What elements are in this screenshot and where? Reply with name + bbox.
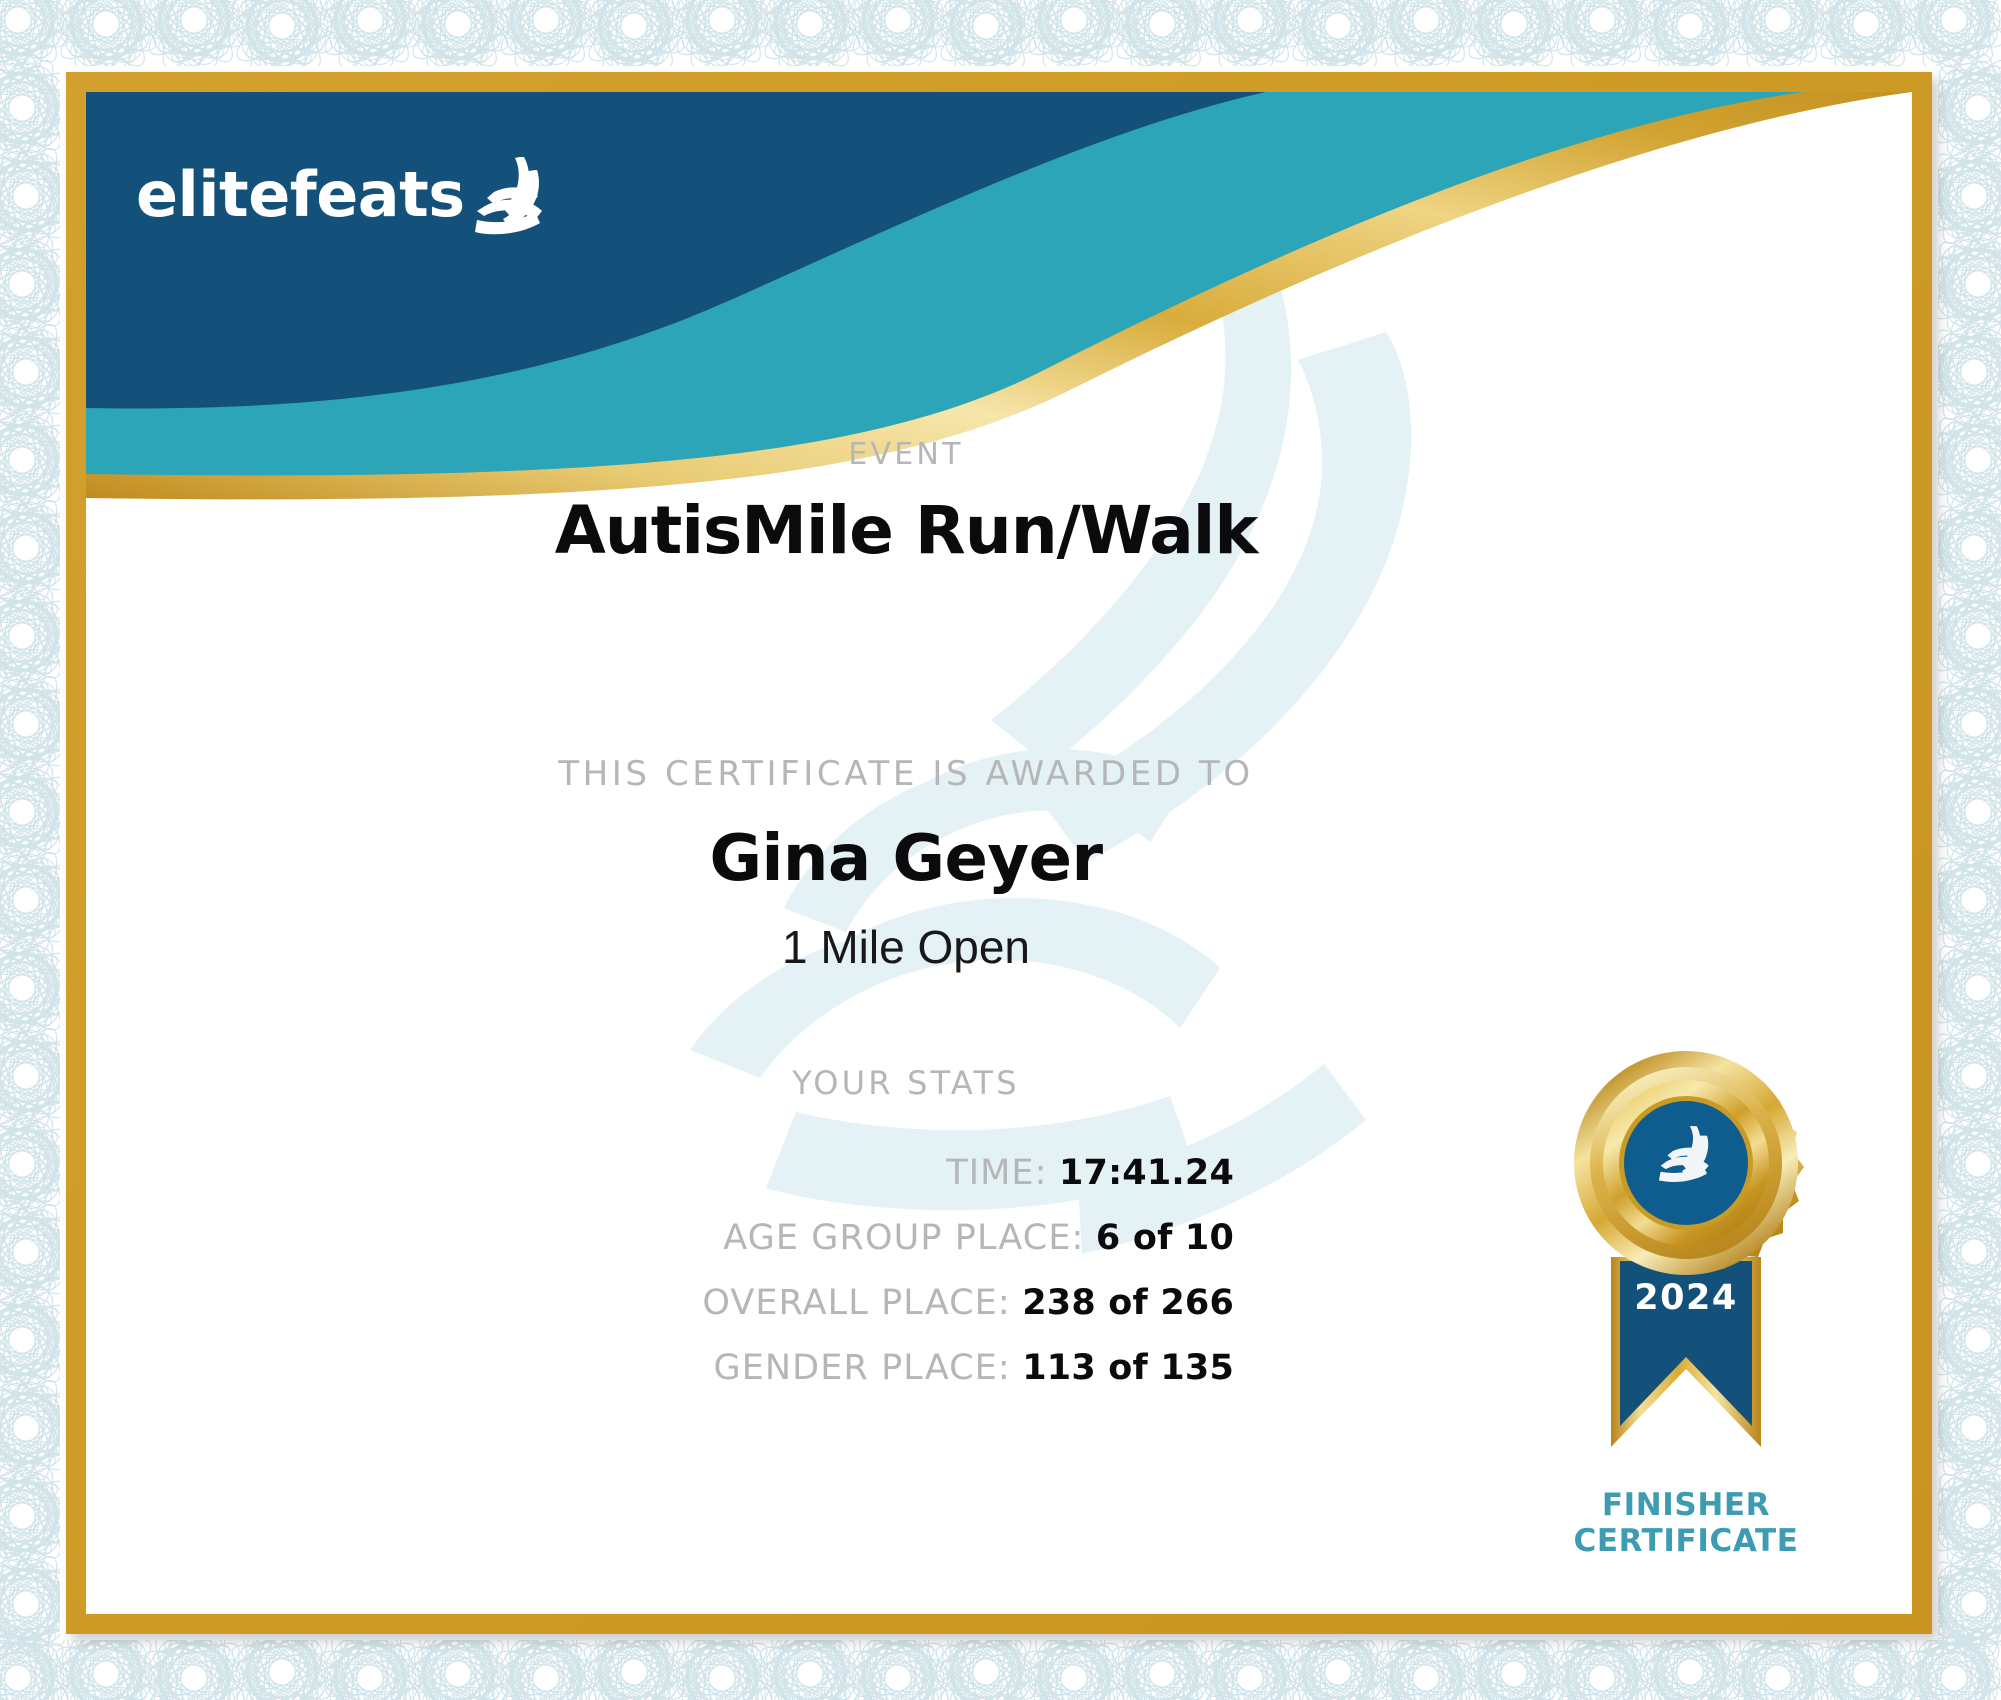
finisher-medal-seal: 2024	[1541, 1047, 1831, 1487]
caption-line-2: CERTIFICATE	[1531, 1523, 1841, 1559]
your-stats-heading: YOUR STATS	[86, 1064, 1726, 1102]
certificate-page: elitefeats EVENT AutisMile Run/Walk THIS…	[0, 0, 2001, 1700]
certificate-body: elitefeats EVENT AutisMile Run/Walk THIS…	[86, 92, 1912, 1614]
seal-year: 2024	[1634, 1278, 1737, 1318]
event-label: EVENT	[86, 437, 1726, 472]
brand-wordmark: elitefeats	[136, 164, 465, 226]
stat-row-overall-place: OVERALL PLACE: 238 of 266	[86, 1280, 1234, 1327]
stat-value: 238 of 266	[1022, 1283, 1234, 1323]
event-name: AutisMile Run/Walk	[86, 492, 1726, 569]
elitefeats-logo: elitefeats	[136, 154, 547, 226]
stat-row-age-group-place: AGE GROUP PLACE: 6 of 10	[86, 1215, 1234, 1262]
stat-label: OVERALL PLACE:	[702, 1283, 1010, 1323]
finisher-certificate-caption: FINISHER CERTIFICATE	[1531, 1487, 1841, 1560]
recipient-name: Gina Geyer	[86, 822, 1726, 896]
stat-value: 17:41.24	[1059, 1153, 1234, 1193]
stat-label: AGE GROUP PLACE:	[723, 1218, 1084, 1258]
caption-line-1: FINISHER	[1531, 1487, 1841, 1523]
awarded-to-label: THIS CERTIFICATE IS AWARDED TO	[86, 754, 1726, 794]
certificate-content: EVENT AutisMile Run/Walk THIS CERTIFICAT…	[86, 92, 1912, 1614]
gold-frame-border: elitefeats EVENT AutisMile Run/Walk THIS…	[66, 72, 1932, 1634]
winged-foot-icon	[469, 154, 547, 238]
stat-row-time: TIME: 17:41.24	[86, 1150, 1234, 1197]
stat-label: GENDER PLACE:	[713, 1348, 1010, 1388]
stat-value: 6 of 10	[1096, 1218, 1234, 1258]
stats-list: TIME: 17:41.24 AGE GROUP PLACE: 6 of 10 …	[86, 1150, 1234, 1410]
division-name: 1 Mile Open	[86, 920, 1726, 974]
stat-row-gender-place: GENDER PLACE: 113 of 135	[86, 1345, 1234, 1392]
stat-label: TIME:	[946, 1153, 1047, 1193]
stat-value: 113 of 135	[1022, 1348, 1234, 1388]
